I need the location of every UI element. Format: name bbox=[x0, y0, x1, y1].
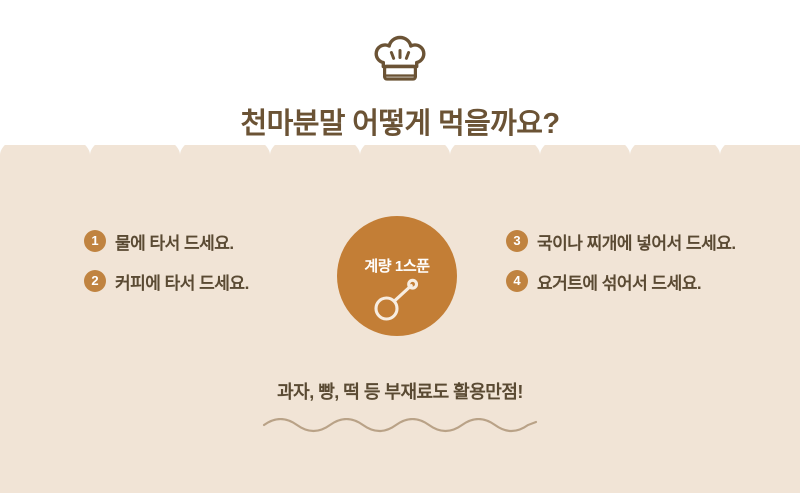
step-number-badge: 4 bbox=[506, 270, 528, 292]
step-label: 커피에 타서 드세요. bbox=[115, 269, 249, 294]
list-item: 1 물에 타서 드세요. bbox=[84, 228, 249, 254]
list-item: 3 국이나 찌개에 넣어서 드세요. bbox=[506, 228, 736, 254]
chef-hat-icon bbox=[368, 33, 432, 83]
step-number-badge: 3 bbox=[506, 230, 528, 252]
measuring-spoon-circle: 계량 1스푼 bbox=[337, 216, 457, 336]
wavy-line-divider bbox=[262, 418, 538, 438]
infographic-root: 천마분말 어떻게 먹을까요? 1 물에 타서 드세요. 2 커피에 타서 드세요… bbox=[0, 0, 800, 501]
footer-note: 과자, 빵, 떡 등 부재료도 활용만점! bbox=[0, 378, 800, 404]
methods-list-left: 1 물에 타서 드세요. 2 커피에 타서 드세요. bbox=[84, 228, 249, 308]
step-label: 요거트에 섞어서 드세요. bbox=[537, 269, 701, 294]
methods-list-right: 3 국이나 찌개에 넣어서 드세요. 4 요거트에 섞어서 드세요. bbox=[506, 228, 736, 308]
step-number-badge: 1 bbox=[84, 230, 106, 252]
step-label: 국이나 찌개에 넣어서 드세요. bbox=[537, 229, 736, 254]
measuring-spoon-icon bbox=[373, 278, 421, 322]
spoon-caption: 계량 1스푼 bbox=[337, 255, 457, 276]
list-item: 2 커피에 타서 드세요. bbox=[84, 268, 249, 294]
scalloped-edge-decoration bbox=[0, 145, 800, 169]
step-number-badge: 2 bbox=[84, 270, 106, 292]
page-title: 천마분말 어떻게 먹을까요? bbox=[0, 100, 800, 142]
header-section: 천마분말 어떻게 먹을까요? bbox=[0, 0, 800, 168]
step-label: 물에 타서 드세요. bbox=[115, 229, 234, 254]
list-item: 4 요거트에 섞어서 드세요. bbox=[506, 268, 736, 294]
